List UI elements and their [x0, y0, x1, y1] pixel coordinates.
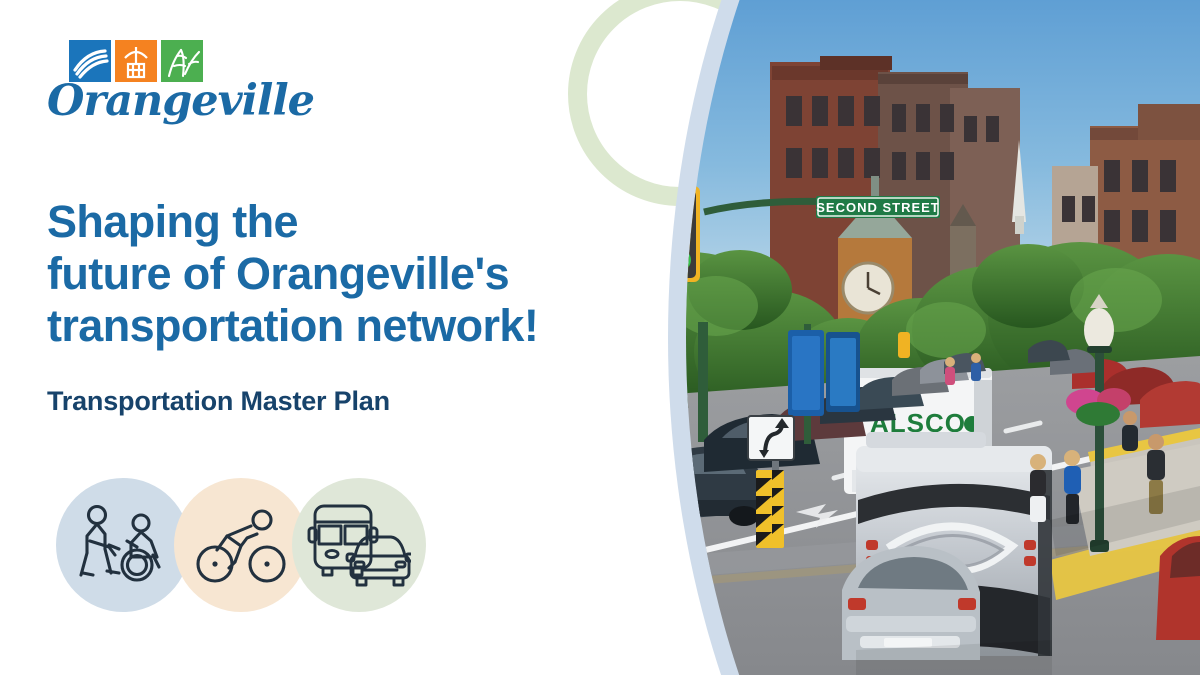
headline-line-2: future of Orangeville's [47, 248, 509, 299]
cyclist-icon [193, 506, 289, 584]
heritage-tile-icon [115, 40, 157, 82]
nature-tile-icon [161, 40, 203, 82]
photo-panel: SECOND STREET ALSCO [620, 0, 1200, 675]
cycling-circle [174, 478, 308, 612]
travel-mode-icons [56, 478, 410, 612]
orangeville-logo[interactable]: Orangeville [47, 40, 277, 123]
page-subtitle: Transportation Master Plan [47, 386, 390, 417]
headline-line-3: transportation network! [47, 300, 538, 351]
transit-and-driving-circle [292, 478, 426, 612]
headline-block: Shaping the future of Orangeville's tran… [47, 196, 697, 353]
logo-wordmark: Orangeville [47, 80, 277, 123]
svg-text:SECOND STREET: SECOND STREET [816, 200, 940, 215]
walking-and-accessibility-circle [56, 478, 190, 612]
waves-tile-icon [69, 40, 111, 82]
transportation-master-plan-banner: SECOND STREET ALSCO [0, 0, 1200, 675]
headline-line-1: Shaping the [47, 196, 298, 247]
bus-and-car-icon [307, 500, 411, 590]
pedestrian-and-wheelchair-icon [71, 501, 175, 589]
